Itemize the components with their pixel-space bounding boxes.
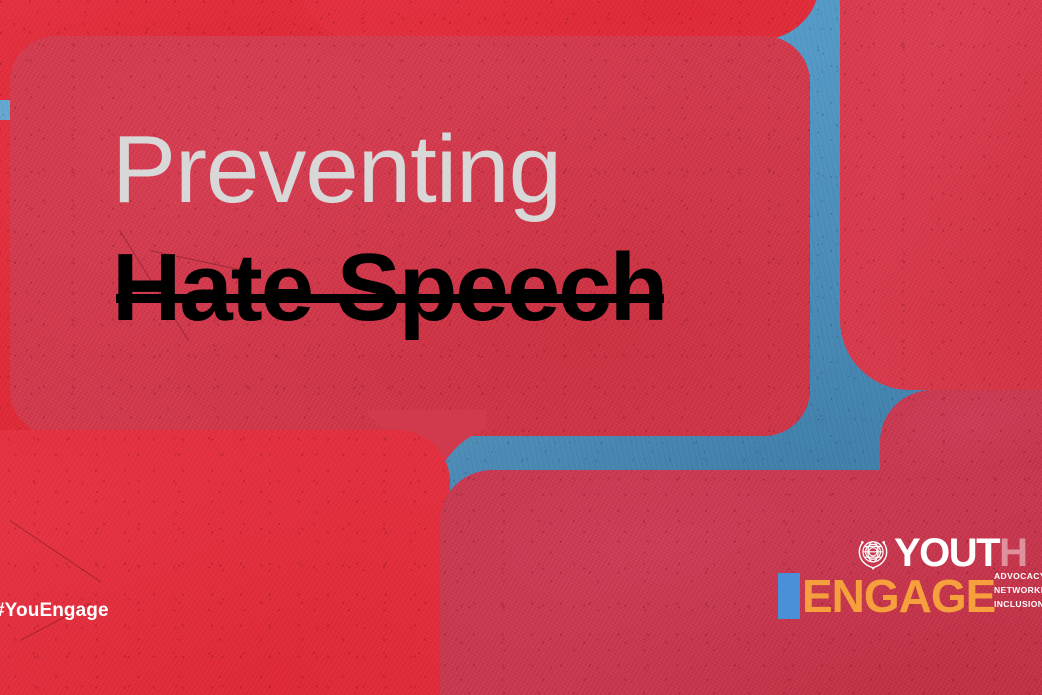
- headline-hate-speech-text: Hate Speech: [112, 234, 666, 341]
- tagline-advocacy: ADVOCACY: [994, 570, 1042, 584]
- tagline-networking: NETWORKING: [994, 584, 1042, 598]
- shape-bottom-left-block: [0, 430, 450, 695]
- headline-line-hate-speech: Hate Speech: [112, 240, 666, 336]
- poster-canvas: Preventing Hate Speech #YouEngage: [0, 0, 1042, 695]
- un-emblem-icon: [854, 534, 892, 572]
- tagline-inclusion: INCLUSION: [994, 598, 1042, 612]
- hashtag-label: #YouEngage: [0, 600, 109, 622]
- strikethrough-rule: [116, 294, 664, 303]
- shape-top-right-block: [840, 0, 1042, 390]
- logo-word-engage: ENGAGE: [802, 573, 995, 619]
- logo-youth-faded: H: [999, 531, 1026, 575]
- logo-top-row: YOUTH: [854, 534, 1042, 572]
- logo-taglines: ADVOCACY NETWORKING INCLUSION: [994, 570, 1042, 611]
- headline-group: Preventing Hate Speech: [112, 122, 666, 336]
- shape-top-middle-block: [300, 0, 820, 40]
- logo-youth-visible: YOUT: [894, 531, 999, 575]
- youth-engage-logo: YOUTH ENGAGE ADVOCACY NETWORKING INCLUSI…: [778, 534, 1042, 619]
- logo-word-youth: YOUTH: [894, 535, 1027, 572]
- logo-blue-square: [778, 573, 800, 619]
- headline-line-preventing: Preventing: [112, 122, 666, 218]
